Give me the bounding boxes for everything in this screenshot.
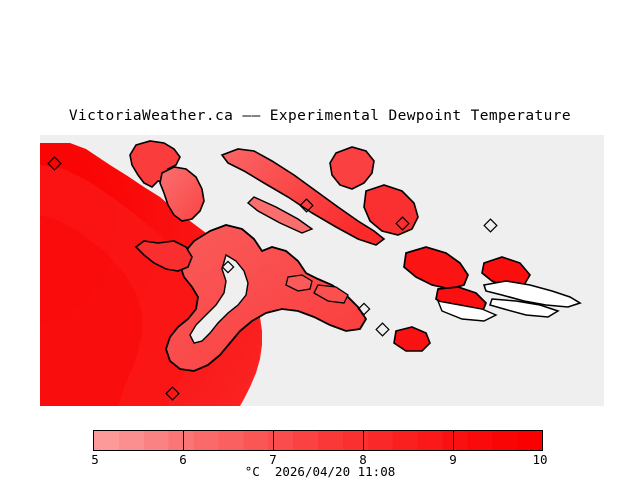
colorbar[interactable] <box>93 430 543 451</box>
page-title: VictoriaWeather.ca —— Experimental Dewpo… <box>0 108 640 124</box>
map-panel[interactable] <box>40 135 604 406</box>
colorbar-gradient <box>93 430 543 451</box>
colorbar-tick-divider <box>183 430 184 451</box>
dewpoint-contour-map[interactable] <box>40 135 604 406</box>
colorbar-tick-divider <box>273 430 274 451</box>
colorbar-tick-divider <box>363 430 364 451</box>
colorbar-caption: °C 2026/04/20 11:08 <box>0 464 640 479</box>
colorbar-tick-divider <box>453 430 454 451</box>
